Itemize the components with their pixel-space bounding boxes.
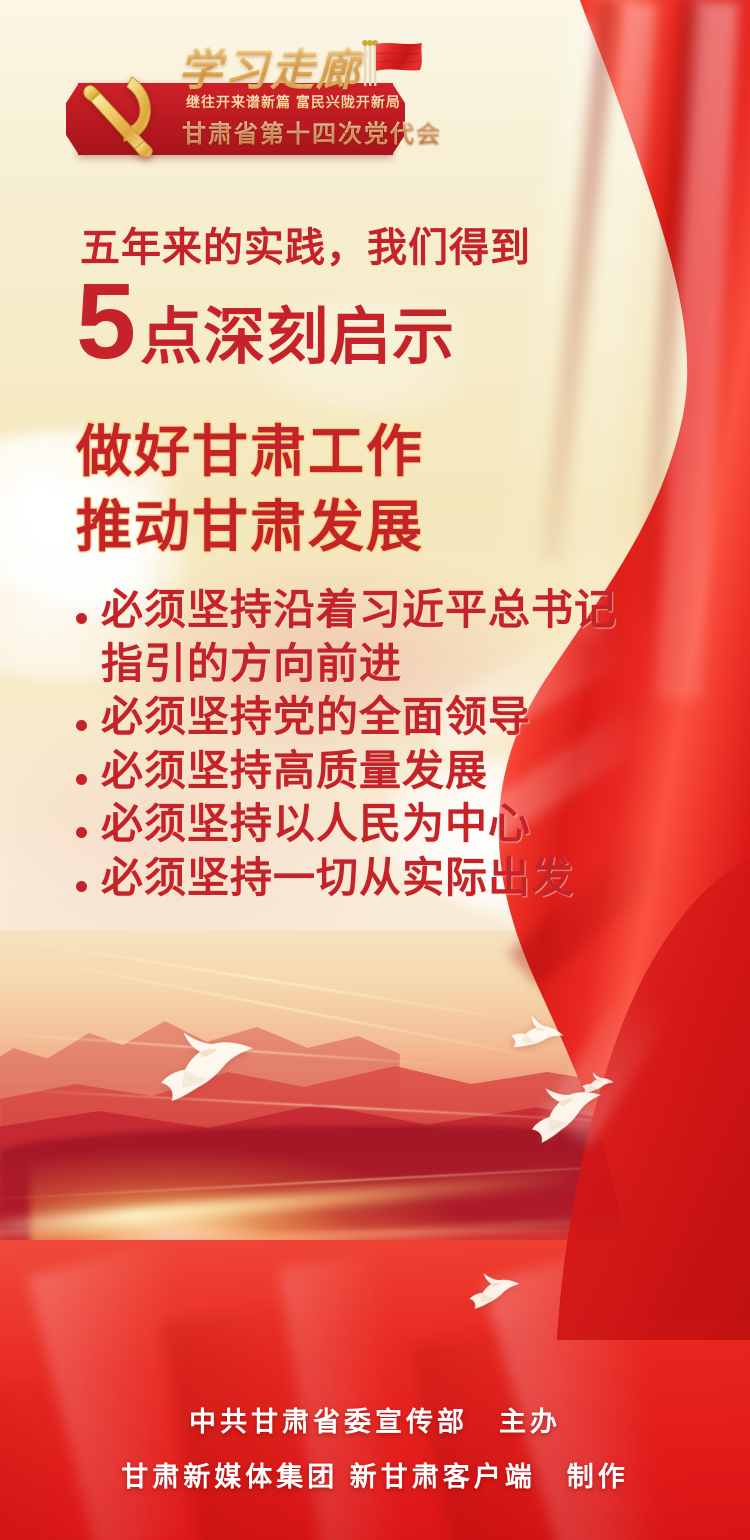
logo-slogan: 继往开来谱新篇 富民兴陇开新局 [186, 92, 401, 112]
subtitle-line-2: 推动甘肃发展 [76, 482, 424, 563]
highlight-number: 5 [76, 272, 136, 369]
list-item: 指引的方向前进 [76, 639, 676, 689]
list-item: 必须坚持沿着习近平总书记 [76, 585, 676, 635]
highlight-text: 点深刻启示 [140, 286, 455, 376]
kicker-text: 五年来的实践，我们得到 [80, 215, 531, 273]
bullet-dot-icon [76, 827, 87, 838]
list-item-label: 必须坚持沿着习近平总书记 [101, 585, 617, 635]
bullet-list: 必须坚持沿着习近平总书记指引的方向前进必须坚持党的全面领导必须坚持高质量发展必须… [76, 585, 676, 906]
list-item-label: 必须坚持高质量发展 [101, 746, 488, 796]
list-item: 必须坚持以人民为中心 [76, 799, 676, 849]
list-item: 必须坚持一切从实际出发 [76, 853, 676, 903]
bullet-dot-icon [76, 720, 87, 731]
calligraphy-title: 学习走廊 [178, 34, 362, 98]
subtitle-line-1: 做好甘肃工作 [76, 407, 424, 488]
bullet-dot-icon [76, 774, 87, 785]
list-item-label: 必须坚持一切从实际出发 [101, 853, 574, 903]
poster-root: 学习走廊 [0, 0, 750, 1540]
bullet-dot-icon [76, 613, 87, 624]
footer-line-1: 中共甘肃省委宣传部 主办 [0, 1400, 750, 1439]
bullet-spacer [76, 667, 87, 678]
footer-line-2: 甘肃新媒体集团 新甘肃客户端 制作 [0, 1455, 750, 1494]
list-item-label: 必须坚持党的全面领导 [101, 692, 531, 742]
hammer-and-sickle-emblem [81, 70, 167, 160]
list-item: 必须坚持高质量发展 [76, 746, 676, 796]
bullet-dot-icon [76, 881, 87, 892]
header-logo: 学习走廊 [78, 36, 438, 156]
list-item-label: 指引的方向前进 [101, 639, 402, 689]
red-flag-icon [356, 40, 428, 90]
logo-conference: 甘肃省第十四次党代会 [182, 114, 442, 149]
list-item-label: 必须坚持以人民为中心 [101, 799, 531, 849]
list-item: 必须坚持党的全面领导 [76, 692, 676, 742]
footer: 中共甘肃省委宣传部 主办 甘肃新媒体集团 新甘肃客户端 制作 [0, 1400, 750, 1494]
highlight-heading: 5 点深刻启示 [76, 272, 455, 376]
